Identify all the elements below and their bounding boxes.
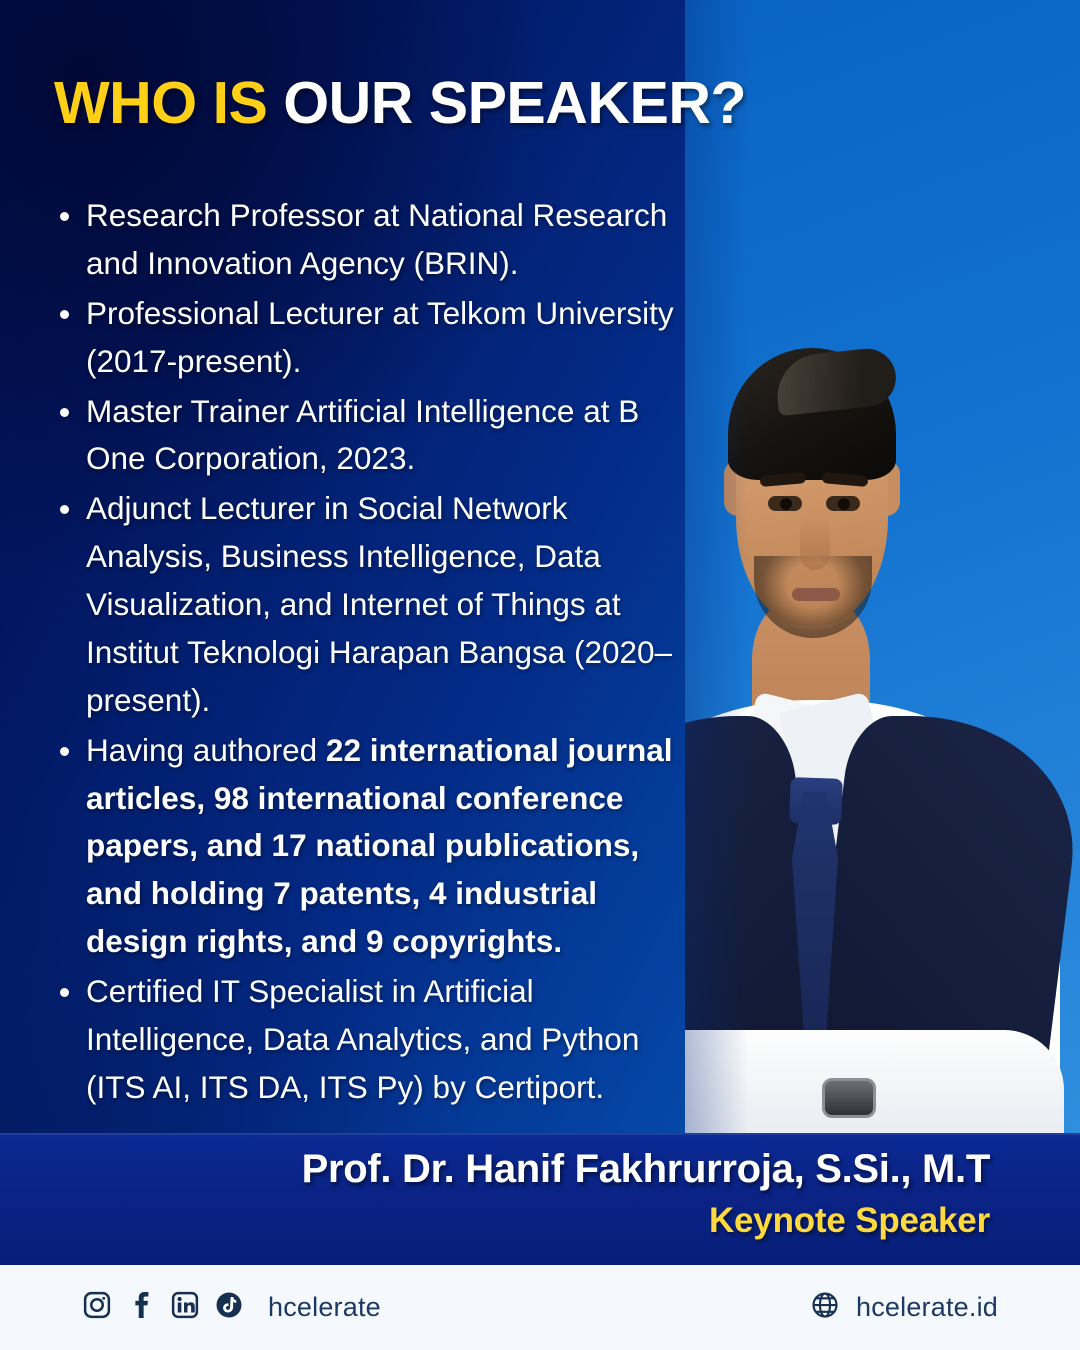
speaker-name: Prof. Dr. Hanif Fakhrurroja, S.Si., M.T xyxy=(302,1147,990,1192)
portrait-eye-left xyxy=(768,496,802,511)
speaker-photo xyxy=(685,0,1080,1133)
portrait-ear-left xyxy=(724,460,752,516)
portrait-folded-arms xyxy=(685,1030,1064,1133)
status-badge: Keynote Speaker xyxy=(709,1201,990,1241)
portrait-collar-left xyxy=(717,692,845,879)
social-handle: hcelerate xyxy=(268,1292,381,1323)
portrait-eyebrow-right xyxy=(822,472,869,487)
globe-icon xyxy=(810,1290,840,1325)
portrait-eye-right xyxy=(826,496,860,511)
portrait-eyebrow-left xyxy=(760,472,807,487)
instagram-icon[interactable] xyxy=(82,1290,112,1325)
portrait-neck xyxy=(752,600,870,790)
website-url[interactable]: hcelerate.id xyxy=(856,1292,998,1323)
page-title: WHO IS OUR SPEAKER? xyxy=(54,74,746,133)
facebook-icon[interactable] xyxy=(126,1290,156,1325)
bullet-adjunct-lecturer: Adjunct Lecturer in Social Network Analy… xyxy=(48,485,696,724)
bullet-professional-lecturer: Professional Lecturer at Telkom Universi… xyxy=(48,290,696,386)
bullet-master-trainer: Master Trainer Artificial Intelligence a… xyxy=(48,388,696,484)
page-title-highlight: WHO IS xyxy=(54,70,267,136)
portrait-wristwatch xyxy=(822,1078,876,1118)
portrait-hair xyxy=(728,348,896,480)
bullet-certified-it-specialist: Certified IT Specialist in Artificial In… xyxy=(48,968,696,1112)
speaker-credentials-list: Research Professor at National Research … xyxy=(48,192,696,1114)
portrait-vest-left xyxy=(685,716,840,1133)
portrait-nose xyxy=(800,516,830,570)
speaker-name-banner: Prof. Dr. Hanif Fakhrurroja, S.Si., M.T … xyxy=(0,1133,1080,1265)
bullet-research-professor: Research Professor at National Research … xyxy=(48,192,696,288)
bullet-text: Certified IT Specialist in Artificial In… xyxy=(86,973,639,1105)
bullet-text: Research Professor at National Research … xyxy=(86,197,667,281)
bullet-text: Adjunct Lecturer in Social Network Analy… xyxy=(86,490,672,718)
portrait-shirt xyxy=(685,700,1060,1133)
portrait-head xyxy=(736,358,888,626)
linkedin-icon[interactable] xyxy=(170,1290,200,1325)
portrait-pupil-right xyxy=(838,498,850,510)
footer-social-group: hcelerate xyxy=(82,1265,381,1350)
portrait-hair-sweep xyxy=(773,346,898,416)
footer-website-group: hcelerate.id xyxy=(810,1265,998,1350)
speaker-portrait-figure xyxy=(685,0,1080,1133)
portrait-beard xyxy=(754,556,872,638)
portrait-ear-right xyxy=(872,460,900,516)
bullet-text: Professional Lecturer at Telkom Universi… xyxy=(86,295,674,379)
bullet-text: Having authored xyxy=(86,732,326,768)
portrait-collar-right xyxy=(779,692,907,879)
tiktok-icon[interactable] xyxy=(214,1290,244,1325)
page-title-rest: OUR SPEAKER? xyxy=(267,70,746,136)
bullet-publications: Having authored 22 international journal… xyxy=(48,727,696,966)
portrait-pupil-left xyxy=(780,498,792,510)
portrait-tie xyxy=(792,792,838,1092)
poster-root: WHO IS OUR SPEAKER? Research Professor a… xyxy=(0,0,1080,1350)
portrait-vest-right xyxy=(800,716,1080,1133)
footer: hcelerate hcelerate.id xyxy=(0,1265,1080,1350)
bullet-text: Master Trainer Artificial Intelligence a… xyxy=(86,393,639,477)
portrait-mouth xyxy=(792,588,840,601)
portrait-tie-knot xyxy=(789,777,843,825)
